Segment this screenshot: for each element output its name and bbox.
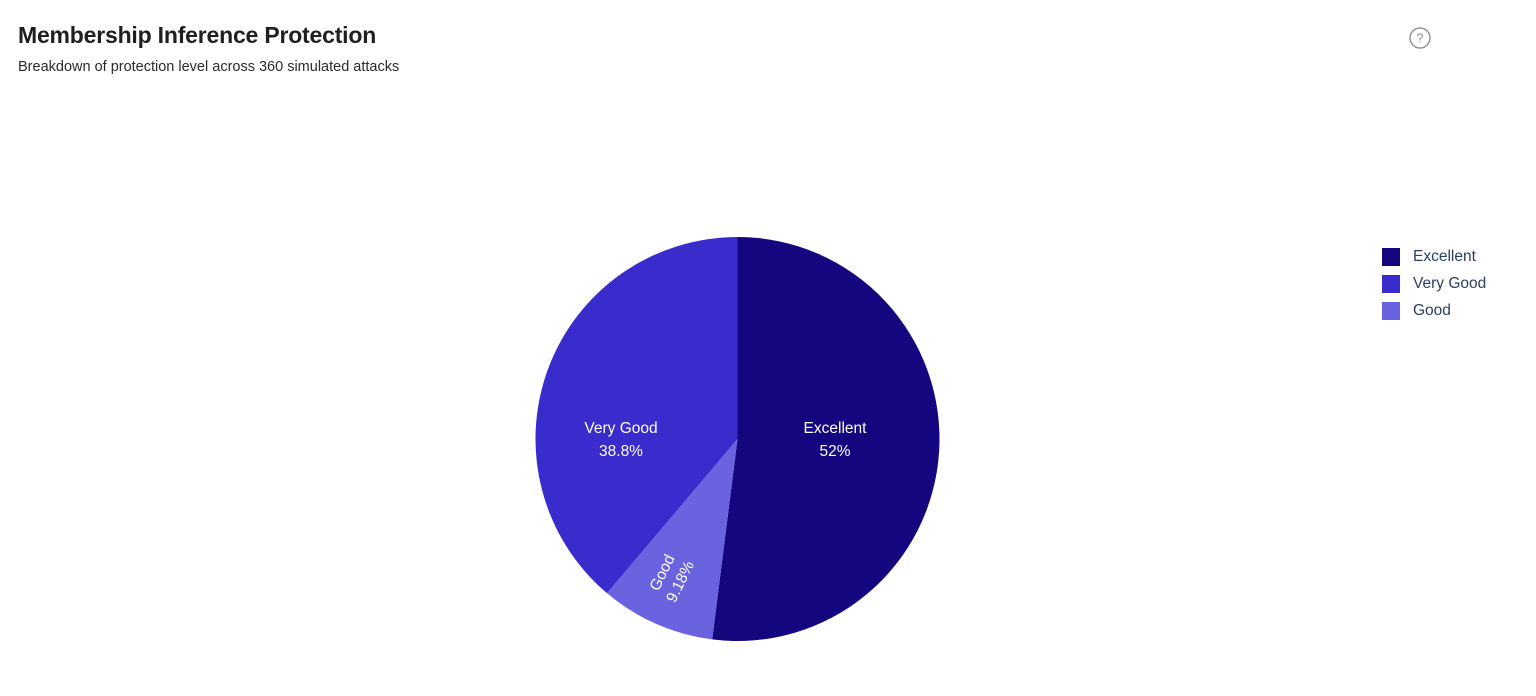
pie-chart-plot: Excellent52%Good9.18%Very Good38.8% <box>0 0 1536 696</box>
pie-chart-svg[interactable]: Excellent52%Good9.18%Very Good38.8% <box>0 0 1536 696</box>
legend-item-good[interactable]: Good <box>1382 302 1486 320</box>
legend-item-label: Excellent <box>1413 249 1476 265</box>
chart-legend[interactable]: ExcellentVery GoodGood <box>1382 248 1486 320</box>
pie-percent-excellent: 52% <box>819 443 850 460</box>
pie-slice-excellent[interactable] <box>712 237 939 641</box>
legend-item-label: Very Good <box>1413 276 1486 292</box>
pie-label-very-good: Very Good <box>584 420 657 437</box>
legend-item-excellent[interactable]: Excellent <box>1382 248 1486 266</box>
legend-swatch-icon <box>1382 302 1400 320</box>
legend-swatch-icon <box>1382 248 1400 266</box>
legend-swatch-icon <box>1382 275 1400 293</box>
pie-label-excellent: Excellent <box>804 420 868 437</box>
legend-item-very-good[interactable]: Very Good <box>1382 275 1486 293</box>
pie-slices-group[interactable] <box>536 237 940 641</box>
legend-item-label: Good <box>1413 303 1451 319</box>
pie-percent-very-good: 38.8% <box>599 443 643 460</box>
